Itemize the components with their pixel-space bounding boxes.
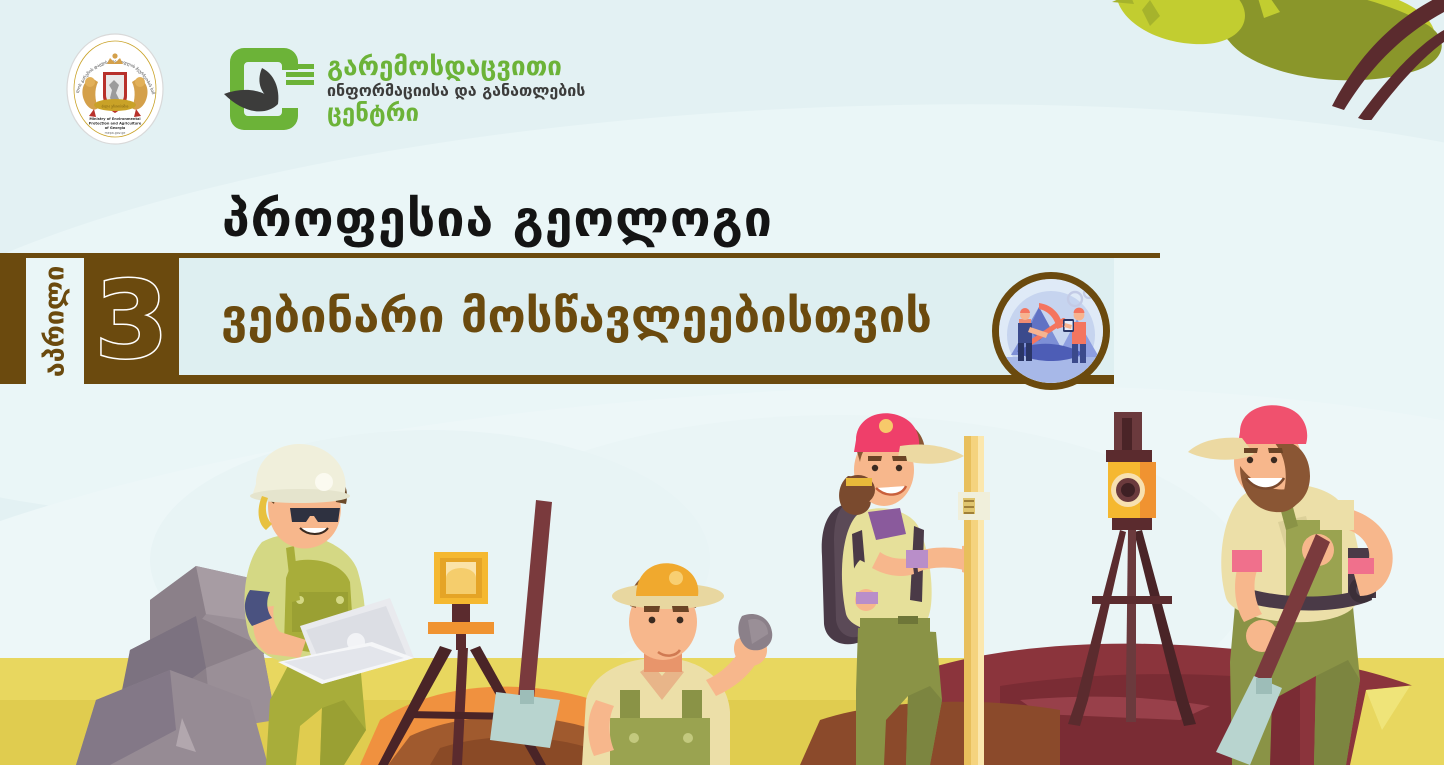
svg-text:of Georgia: of Georgia xyxy=(105,126,126,130)
svg-text:Ministry of Environmental: Ministry of Environmental xyxy=(89,117,140,121)
tree-branch-foliage-icon xyxy=(1014,0,1444,120)
geology-fieldwork-scene xyxy=(0,400,1444,765)
header-logos: საქართველოს გარემოს დაცვისა და სოფლის მე… xyxy=(60,32,585,147)
banner-panel: ვებინარი მოსწავლეებისთვის xyxy=(179,258,1114,384)
org-logo: გარემოსდაცვითი ინფორმაციისა და განათლები… xyxy=(222,42,585,137)
day-number-text: 3 xyxy=(95,268,169,374)
geologists-mountain-pickaxe-icon xyxy=(999,279,1103,383)
day-number-box: 3 xyxy=(84,258,179,384)
banner-headline: ვებინარი მოსწავლეებისთვის xyxy=(221,289,932,344)
book-leaf-logo-icon xyxy=(222,42,317,137)
theodolite-tripod-right xyxy=(1068,412,1196,726)
poster-canvas: საქართველოს გარემოს დაცვისა და სოფლის მე… xyxy=(0,0,1444,765)
month-tab-block xyxy=(0,258,26,384)
org-logo-line2: ინფორმაციისა და განათლების xyxy=(327,83,585,99)
month-label-text: აპრილი xyxy=(40,265,71,377)
svg-text:Protection and Agriculture: Protection and Agriculture xyxy=(89,122,142,126)
ministry-emblem-icon: საქართველოს გარემოს დაცვისა და სოფლის მე… xyxy=(60,32,170,147)
shovel-left-icon xyxy=(490,500,560,748)
month-label: აპრილი xyxy=(26,258,84,384)
svg-text:mepa.gov.ge: mepa.gov.ge xyxy=(105,131,126,135)
svg-text:ძალა ერთობაშია: ძალა ერთობაშია xyxy=(102,104,129,108)
geology-badge xyxy=(992,272,1110,390)
org-logo-line3: ცენტრი xyxy=(327,101,585,125)
page-title: პროფესია გეოლოგი xyxy=(222,190,773,248)
org-logo-line1: გარემოსდაცვითი xyxy=(327,54,585,80)
